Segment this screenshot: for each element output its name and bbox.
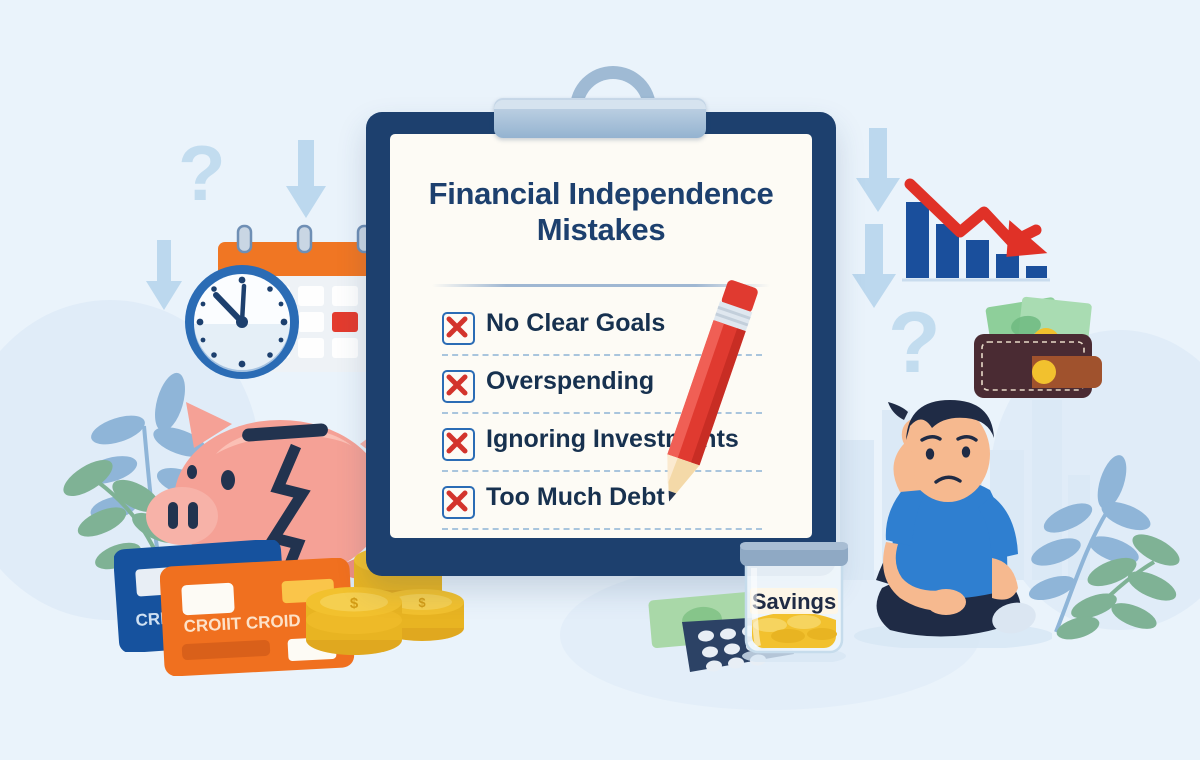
title-line-2: Mistakes: [426, 212, 776, 248]
checkbox-x-icon[interactable]: [442, 486, 475, 519]
wallet-clasp: [1032, 360, 1056, 384]
list-item[interactable]: Ignoring Investments: [428, 420, 778, 478]
svg-text:$: $: [418, 595, 426, 610]
wallet-with-cash: [968, 296, 1116, 404]
wall-clock: [182, 262, 302, 382]
down-arrow-icon-4: [852, 224, 896, 308]
clipboard: Financial Independence Mistakes No Clear…: [366, 112, 836, 576]
down-arrow-icon-3: [856, 128, 900, 212]
savings-jar-label: Savings: [752, 589, 836, 614]
page-title: Financial Independence Mistakes: [426, 176, 776, 248]
question-mark-icon-right: ?: [888, 300, 941, 386]
declining-bar-chart: [900, 178, 1050, 290]
list-item-divider: [442, 470, 762, 472]
savings-jar: Savings: [734, 528, 854, 662]
list-item[interactable]: Too Much Debt: [428, 478, 778, 536]
down-arrow-icon-1: [286, 140, 326, 218]
list-item-divider: [442, 528, 762, 530]
list-item-label: No Clear Goals: [486, 309, 665, 338]
title-line-1: Financial Independence: [426, 176, 776, 212]
checkbox-x-icon[interactable]: [442, 428, 475, 461]
list-item-label: Too Much Debt: [486, 483, 665, 512]
left-hand-resting: [926, 589, 966, 615]
worried-man: [842, 392, 1052, 648]
clipboard-clip: [494, 98, 706, 138]
checkbox-x-icon[interactable]: [442, 370, 475, 403]
checkbox-x-icon[interactable]: [442, 312, 475, 345]
jar-coins: [752, 612, 837, 648]
right-hand: [992, 558, 1018, 600]
list-item-label: Overspending: [486, 367, 654, 396]
illustration-canvas: ? ?: [0, 0, 1200, 760]
svg-text:$: $: [350, 595, 359, 612]
calendar-marked-day: [332, 312, 358, 332]
question-mark-icon-left: ?: [178, 134, 226, 212]
down-arrow-icon-2: [146, 240, 182, 310]
